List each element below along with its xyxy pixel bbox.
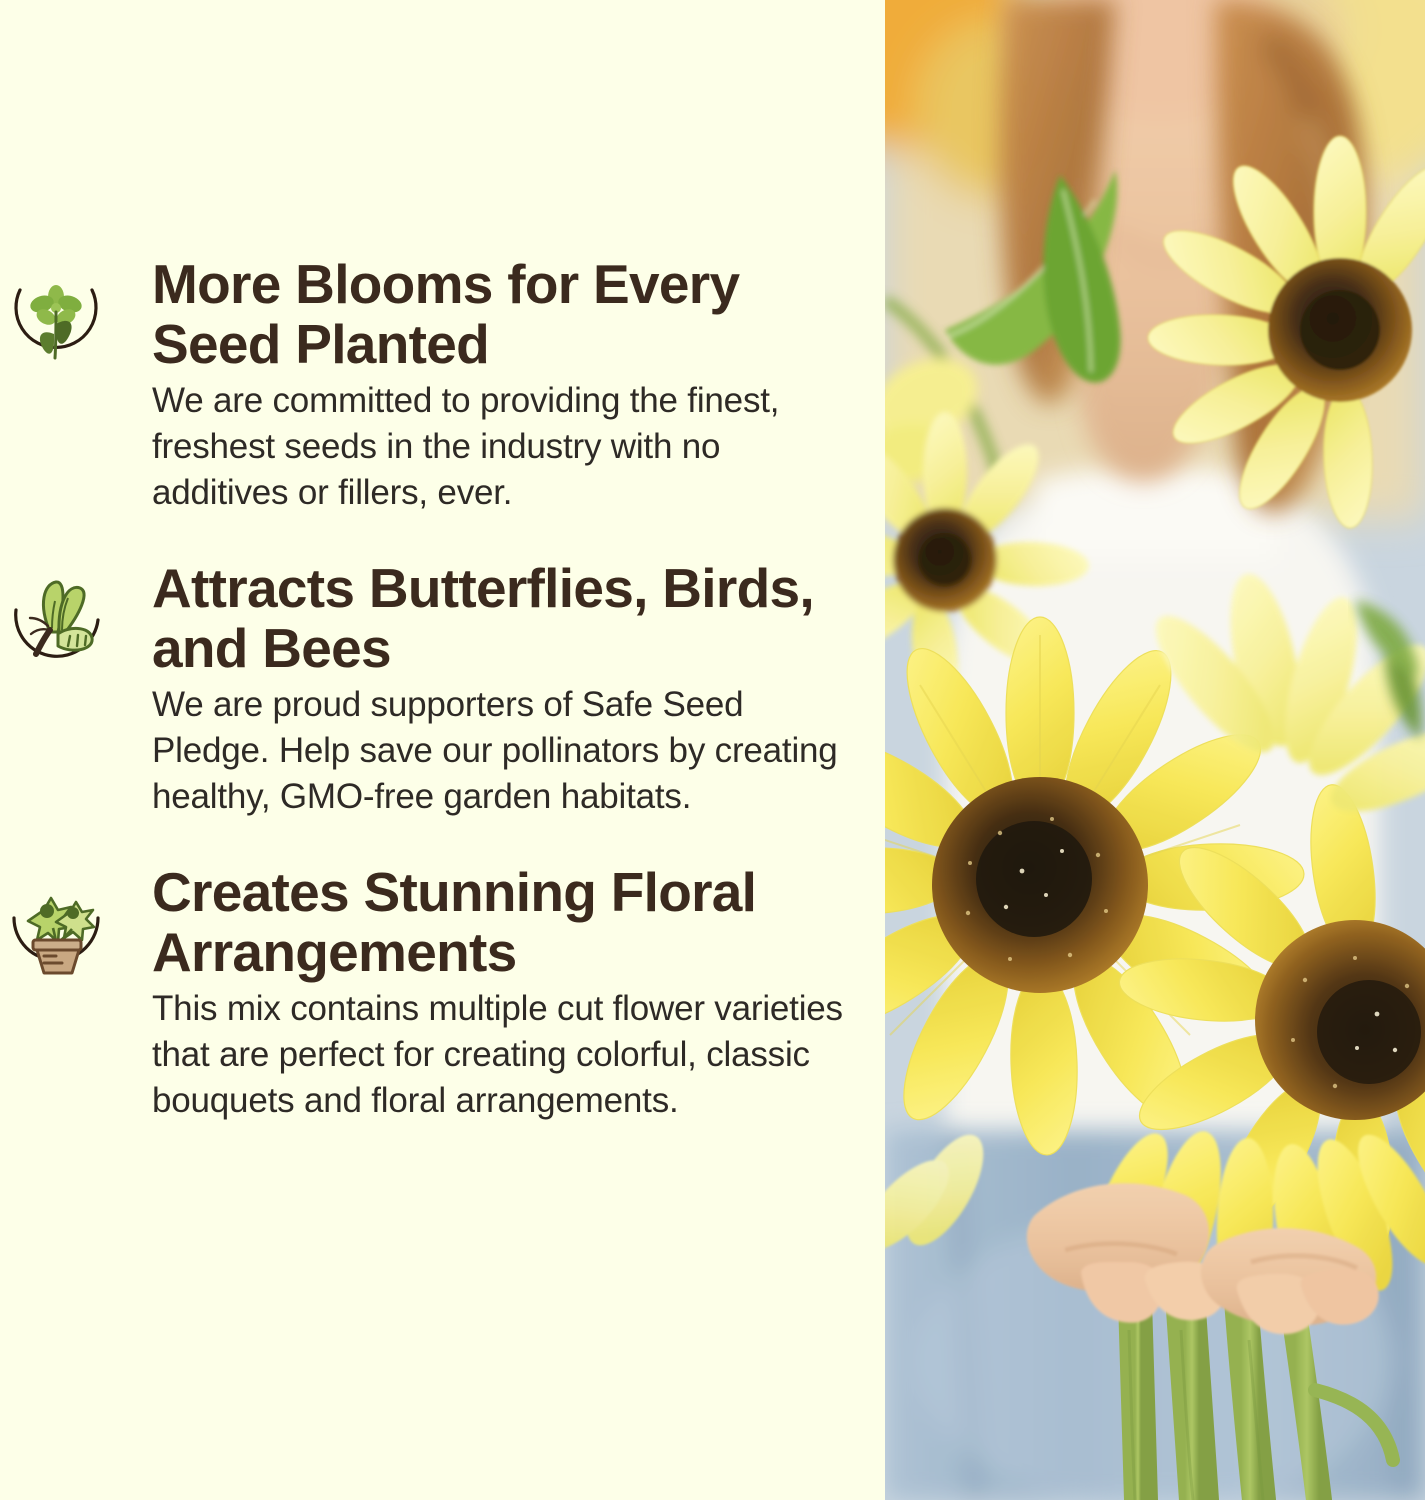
potted-plant-icon [6, 880, 106, 980]
feature-body: We are proud supporters of Safe Seed Ple… [152, 682, 855, 820]
feature-heading: More Blooms for Every Seed Planted [152, 254, 855, 374]
feature-item: Attracts Butterflies, Birds, and Bees We… [0, 562, 885, 820]
feature-item: More Blooms for Every Seed Planted We ar… [0, 258, 885, 516]
feature-text: Creates Stunning Floral Arrangements Thi… [152, 862, 885, 1124]
feature-heading: Attracts Butterflies, Birds, and Bees [152, 558, 855, 678]
feature-icon-wrap [0, 258, 152, 378]
product-feature-page: More Blooms for Every Seed Planted We ar… [0, 0, 1425, 1500]
feature-heading: Creates Stunning Floral Arrangements [152, 862, 855, 982]
feature-body: This mix contains multiple cut flower va… [152, 986, 855, 1124]
butterfly-icon [6, 576, 106, 676]
feature-item: Creates Stunning Floral Arrangements Thi… [0, 866, 885, 1124]
flower-sprout-icon [6, 272, 106, 372]
feature-icon-wrap [0, 562, 152, 682]
feature-text: More Blooms for Every Seed Planted We ar… [152, 254, 885, 516]
feature-list: More Blooms for Every Seed Planted We ar… [0, 258, 885, 1170]
feature-icon-wrap [0, 866, 152, 986]
feature-body: We are committed to providing the finest… [152, 378, 812, 516]
product-lifestyle-photo [885, 0, 1425, 1500]
feature-panel: More Blooms for Every Seed Planted We ar… [0, 0, 885, 1500]
feature-text: Attracts Butterflies, Birds, and Bees We… [152, 558, 885, 820]
